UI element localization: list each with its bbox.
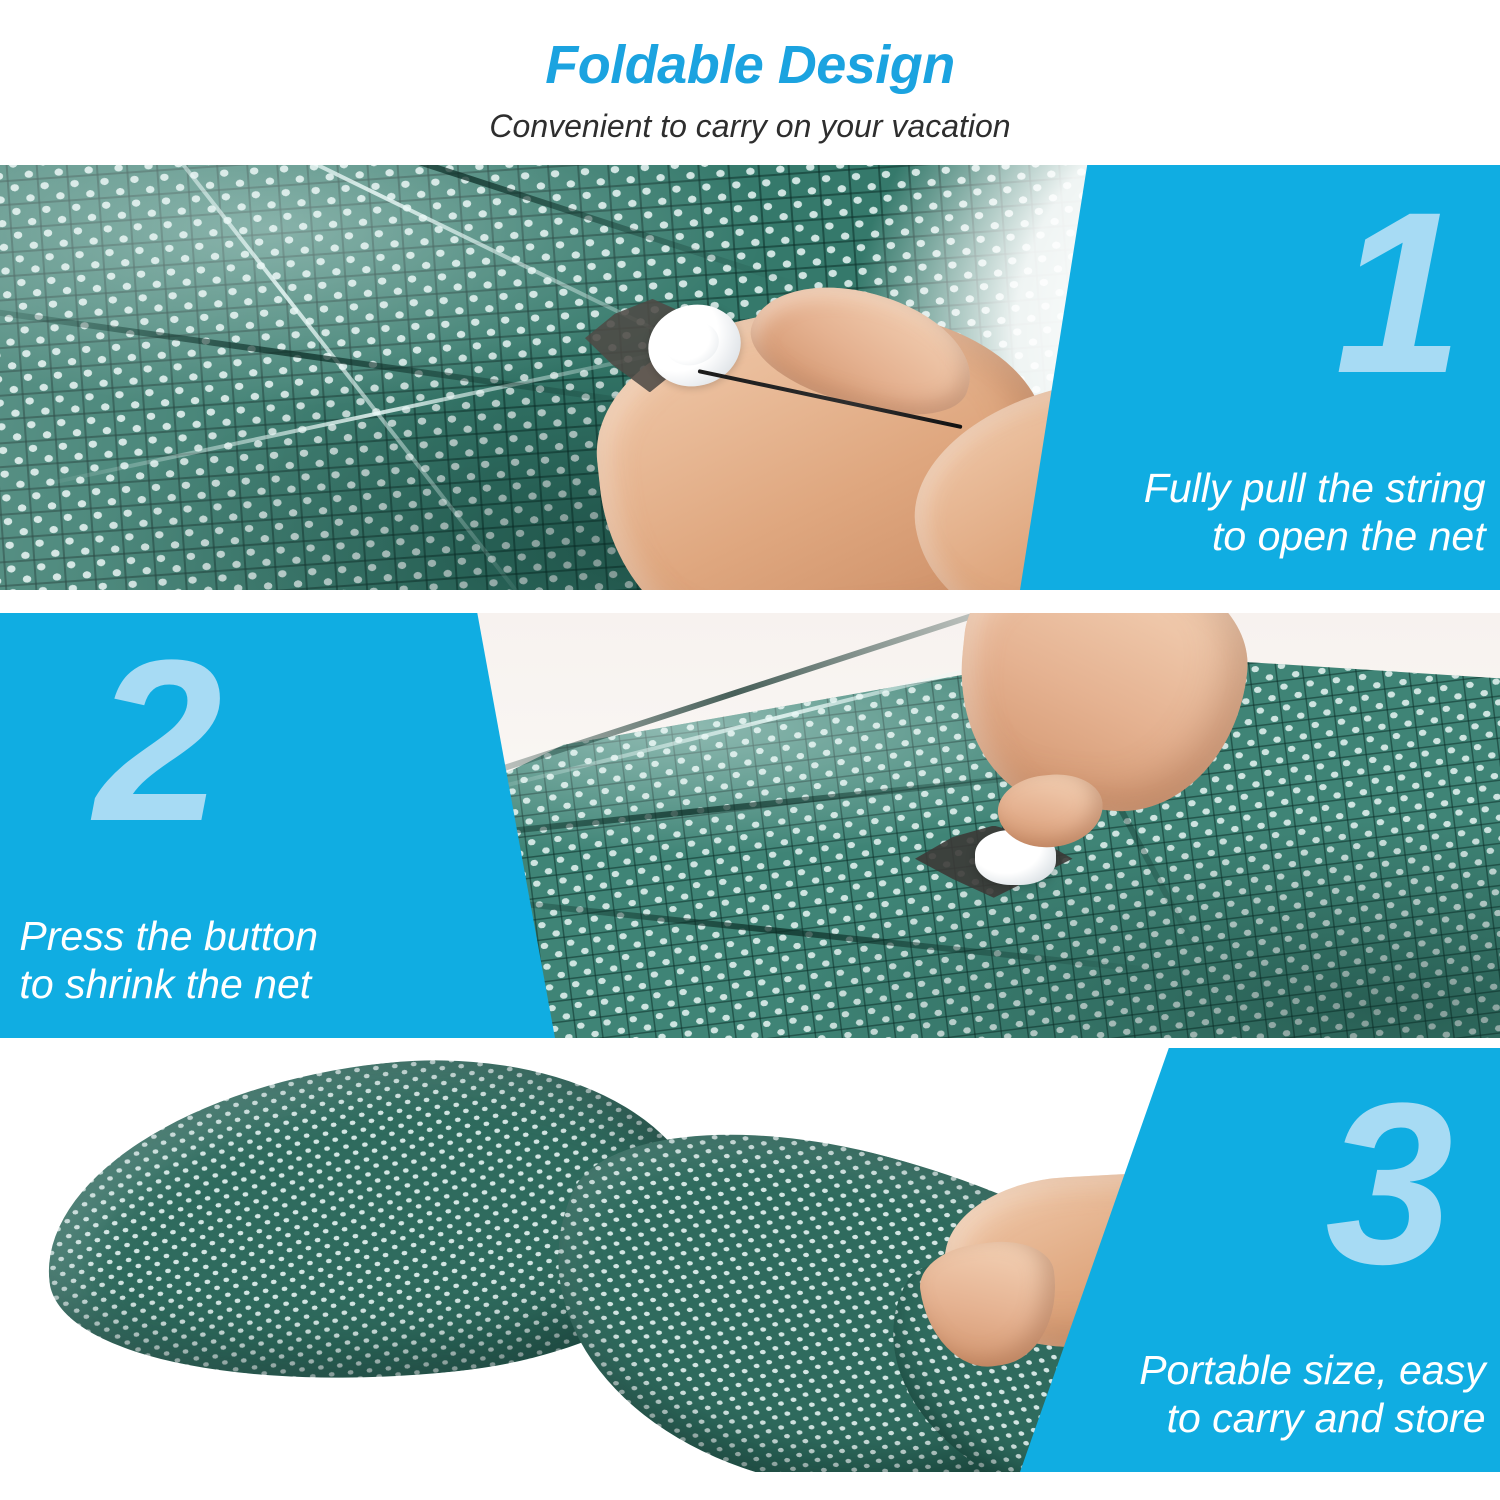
step-2-number: 2 — [94, 626, 216, 856]
step-panel-2: 2 Press the button to shrink the net — [0, 613, 1500, 1038]
step-3-caption: Portable size, easy to carry and store — [1139, 1347, 1485, 1442]
step-2-callout: 2 Press the button to shrink the net — [0, 613, 555, 1038]
page-subtitle: Convenient to carry on your vacation — [0, 92, 1500, 142]
step-panel-3: 3 Portable size, easy to carry and store — [0, 1048, 1500, 1472]
step-2-caption: Press the button to shrink the net — [19, 913, 318, 1008]
step-3-number: 3 — [1325, 1069, 1447, 1299]
step-1-number: 1 — [1335, 178, 1457, 408]
infographic-page: Foldable Design Convenient to carry on y… — [0, 0, 1500, 1500]
step-1-callout: 1 Fully pull the string to open the net — [1020, 165, 1500, 590]
step-1-caption: Fully pull the string to open the net — [1144, 465, 1486, 560]
header: Foldable Design Convenient to carry on y… — [0, 0, 1500, 165]
page-title: Foldable Design — [0, 0, 1500, 92]
step-panel-1: 1 Fully pull the string to open the net — [0, 165, 1500, 590]
